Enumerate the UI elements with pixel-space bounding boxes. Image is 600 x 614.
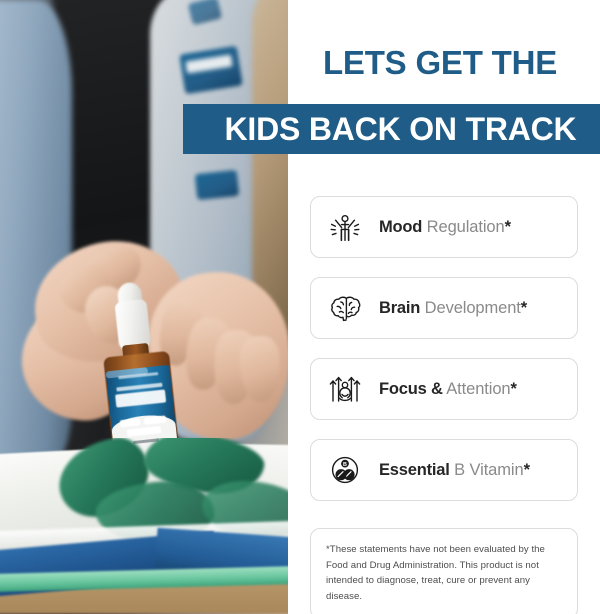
- feature-bold-focus: Focus &: [379, 380, 443, 398]
- feature-label-focus: Focus & Attention*: [379, 380, 517, 398]
- feature-normal-brain: Development: [420, 299, 521, 317]
- feature-footnote-vitamin: *: [524, 461, 530, 479]
- headline-line-1: LETS GET THE: [288, 46, 600, 79]
- svg-text:B: B: [343, 462, 347, 468]
- promo-graphic: LETS GET THE KIDS BACK ON TRACK: [0, 0, 600, 614]
- feature-normal-mood: Regulation: [422, 218, 504, 236]
- feature-footnote-focus: *: [511, 380, 517, 398]
- person-arms-raised-icon: [325, 207, 365, 247]
- photo-jacket-patch-lower: [195, 170, 239, 200]
- feature-footnote-mood: *: [505, 218, 511, 236]
- feature-label-mood: Mood Regulation*: [379, 218, 511, 236]
- disclaimer-text: *These statements have not been evaluate…: [326, 542, 562, 604]
- headline-line-2: KIDS BACK ON TRACK: [207, 113, 577, 145]
- feature-card-mood[interactable]: Mood Regulation*: [310, 196, 578, 258]
- vitamin-b-capsule-icon: B: [325, 450, 365, 490]
- disclaimer-box: *These statements have not been evaluate…: [310, 528, 578, 614]
- feature-normal-focus: Attention: [443, 380, 511, 398]
- label-product-name: [115, 389, 166, 407]
- feature-card-vitamin[interactable]: B Essential B Vitamin*: [310, 439, 578, 501]
- feature-card-focus[interactable]: Focus & Attention*: [310, 358, 578, 420]
- feature-normal-vitamin: B Vitamin: [450, 461, 524, 479]
- feature-list: Mood Regulation*: [310, 196, 578, 520]
- feature-bold-brain: Brain: [379, 299, 420, 317]
- feature-bold-mood: Mood: [379, 218, 422, 236]
- feature-card-brain[interactable]: Brain Development*: [310, 277, 578, 339]
- headline: LETS GET THE KIDS BACK ON TRACK: [288, 46, 600, 79]
- feature-label-brain: Brain Development*: [379, 299, 527, 317]
- feature-label-vitamin: Essential B Vitamin*: [379, 461, 530, 479]
- feature-bold-vitamin: Essential: [379, 461, 450, 479]
- photo-open-book: [0, 438, 300, 614]
- brain-icon: [325, 288, 365, 328]
- headline-band: KIDS BACK ON TRACK: [183, 104, 600, 154]
- content-panel: LETS GET THE KIDS BACK ON TRACK: [288, 0, 600, 614]
- product-lifestyle-photo: [0, 0, 300, 614]
- feature-footnote-brain: *: [521, 299, 527, 317]
- meditating-person-arrows-icon: [325, 369, 365, 409]
